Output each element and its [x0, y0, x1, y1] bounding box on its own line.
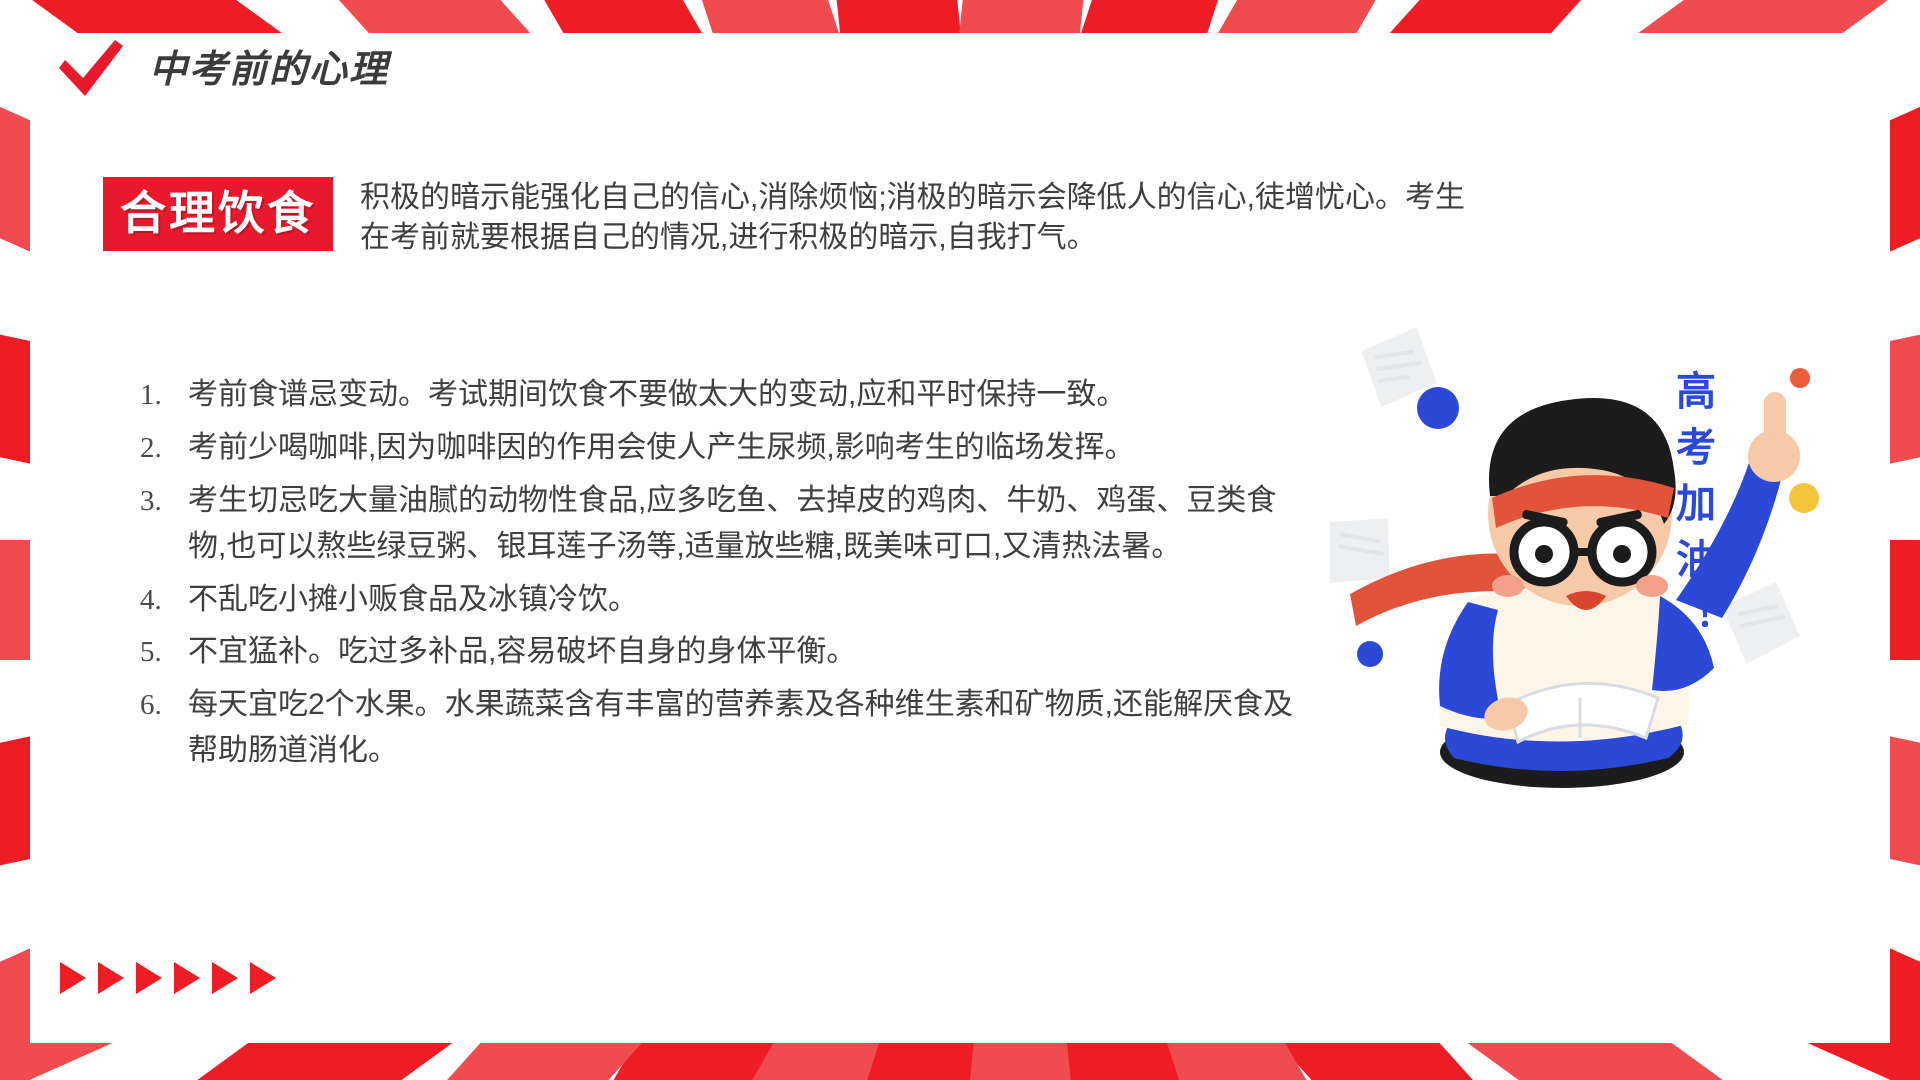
- section-badge: 合理饮食: [103, 177, 333, 251]
- decor-dot: [1357, 641, 1383, 667]
- list-item-text: 考前食谱忌变动。考试期间饮食不要做太大的变动,应和平时保持一致。: [188, 372, 1305, 418]
- arrow-icon: [212, 962, 238, 994]
- list-item-number: 2.: [140, 425, 188, 470]
- eye-left: [1535, 545, 1553, 563]
- decor-dot: [1417, 387, 1459, 429]
- list-item-number: 1.: [140, 372, 188, 417]
- decor-dot: [1789, 483, 1819, 513]
- slide-header: 中考前的心理: [55, 38, 389, 102]
- glasses-bridge: [1572, 548, 1594, 556]
- pointing-finger: [1764, 392, 1786, 458]
- list-item-text: 考生切忌吃大量油腻的动物性食品,应多吃鱼、去掉皮的鸡肉、牛奶、鸡蛋、豆类食物,也…: [188, 478, 1305, 570]
- list-item: 6. 每天宜吃2个水果。水果蔬菜含有丰富的营养素及各种维生素和矿物质,还能解厌食…: [140, 682, 1305, 774]
- bottom-arrow-row: [60, 962, 276, 994]
- arrow-icon: [136, 962, 162, 994]
- list-item: 3. 考生切忌吃大量油腻的动物性食品,应多吃鱼、去掉皮的鸡肉、牛奶、鸡蛋、豆类食…: [140, 478, 1305, 570]
- list-item: 1. 考前食谱忌变动。考试期间饮食不要做太大的变动,应和平时保持一致。: [140, 372, 1305, 418]
- arrow-icon: [250, 962, 276, 994]
- list-item-text: 不乱吃小摊小贩食品及冰镇冷饮。: [188, 577, 1305, 623]
- eye-right: [1613, 545, 1631, 563]
- intro-line-1: 积极的暗示能强化自己的信心,消除烦恼;消极的暗示会降低人的信心,徒增忧心。考生: [360, 178, 1445, 218]
- list-item-number: 3.: [140, 478, 188, 523]
- list-item-number: 4.: [140, 577, 188, 622]
- arrow-icon: [60, 962, 86, 994]
- intro-row: 合理饮食 积极的暗示能强化自己的信心,消除烦恼;消极的暗示会降低人的信心,徒增忧…: [103, 177, 1445, 258]
- list-item: 5. 不宜猛补。吃过多补品,容易破坏自身的身体平衡。: [140, 629, 1305, 675]
- list-item-text: 每天宜吃2个水果。水果蔬菜含有丰富的营养素及各种维生素和矿物质,还能解厌食及帮助…: [188, 682, 1305, 774]
- cheek-right: [1636, 575, 1668, 597]
- intro-paragraph: 积极的暗示能强化自己的信心,消除烦恼;消极的暗示会降低人的信心,徒增忧心。考生 …: [360, 178, 1445, 258]
- intro-line-2: 在考前就要根据自己的情况,进行积极的暗示,自我打气。: [360, 218, 1445, 258]
- list-item-text: 不宜猛补。吃过多补品,容易破坏自身的身体平衡。: [188, 629, 1305, 675]
- student-reading-illustration: [1330, 300, 1830, 820]
- list-item-text: 考前少喝咖啡,因为咖啡因的作用会使人产生尿频,影响考生的临场发挥。: [188, 425, 1305, 471]
- arrow-icon: [174, 962, 200, 994]
- list-item: 2. 考前少喝咖啡,因为咖啡因的作用会使人产生尿频,影响考生的临场发挥。: [140, 425, 1305, 471]
- tips-list: 1. 考前食谱忌变动。考试期间饮食不要做太大的变动,应和平时保持一致。 2. 考…: [140, 372, 1305, 781]
- list-item-number: 6.: [140, 682, 188, 727]
- arrow-icon: [98, 962, 124, 994]
- list-item-number: 5.: [140, 629, 188, 674]
- check-mark-icon: [55, 38, 127, 102]
- decor-dot: [1790, 368, 1810, 388]
- slide-canvas: 中考前的心理 合理饮食 积极的暗示能强化自己的信心,消除烦恼;消极的暗示会降低人…: [0, 0, 1920, 1080]
- cheek-left: [1492, 575, 1524, 597]
- left-sleeve: [1439, 602, 1502, 719]
- page-title: 中考前的心理: [149, 51, 389, 89]
- list-item: 4. 不乱吃小摊小贩食品及冰镇冷饮。: [140, 577, 1305, 623]
